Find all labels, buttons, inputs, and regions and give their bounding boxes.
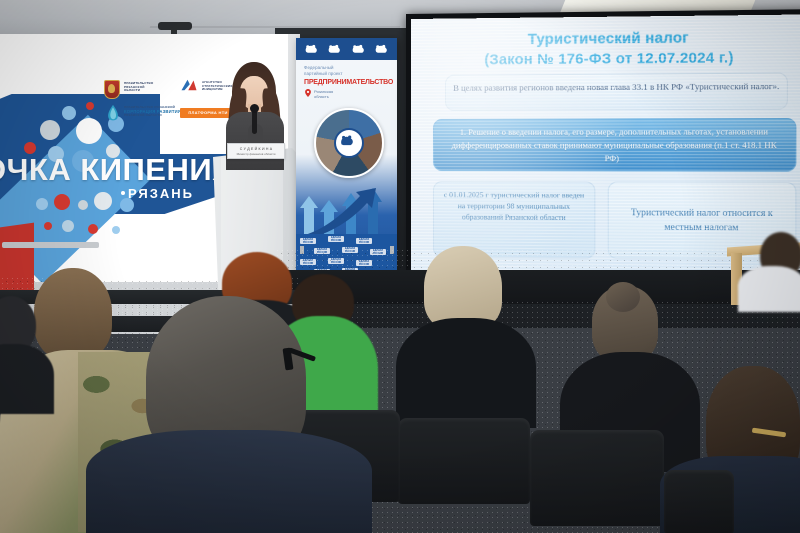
chair-back (530, 430, 664, 526)
chair-back (664, 470, 734, 533)
asi-logo-text: АГЕНТСТВОСТРАТЕГИЧЕСКИХИНИЦИАТИВ (202, 81, 232, 92)
rollup-base (2, 242, 99, 248)
growth-arrows-graphic (296, 178, 397, 240)
venue-city: РЯЗАНЬ (128, 186, 194, 201)
korporaciya-razvitiya-logo-icon (106, 104, 120, 121)
party-seal-icon (339, 133, 355, 149)
rollup-title: ПРЕДПРИНИМАТЕЛЬСТВО (304, 79, 393, 86)
venue-title: ОЧКА КИПЕНИЯ (0, 152, 242, 188)
slide-box-decision: 1. Решение о введении налога, его размер… (433, 118, 796, 172)
bear-logo-icon (304, 43, 319, 55)
nti-platform-badge-label: ПЛАТФОРМА НТИ (180, 108, 236, 118)
nameplate-name: С У Д Е Й К И Н А (228, 147, 284, 151)
rollup-region-line2: область (314, 94, 329, 99)
korporaciya-razvitiya-logo-text: ПРАВИТЕЛЬСТВО РЯЗАНСКОЙКОРПОРАЦИЯ РАЗВИТ… (124, 106, 181, 118)
rollup-subtitle: Федеральный партийный проект (304, 65, 343, 77)
podium-nameplate: С У Д Е Й К И Н А Министр финансов облас… (227, 143, 285, 159)
nti-platform-badge: ПЛАТФОРМА НТИ (180, 108, 236, 118)
asi-logo-icon (180, 78, 198, 92)
bear-logo-icon (351, 43, 366, 55)
nameplate-role: Министр финансов области (228, 152, 284, 156)
bear-logo-icon (374, 43, 389, 55)
rollup-header-bar (296, 38, 397, 60)
rollup-subtitle-line1: Федеральный (304, 65, 334, 70)
bear-logo-icon (327, 43, 342, 55)
ryazan-coat-of-arms-icon (104, 80, 120, 99)
slide-subtitle: (Закон № 176-ФЗ от 12.07.2024 г.) (429, 50, 792, 69)
location-pin-icon (305, 89, 311, 97)
slide-box-intro: В целях развития регионов введена новая … (445, 73, 788, 111)
rollup-subtitle-line2: партийный проект (304, 71, 343, 76)
conference-room-photo: ОЧКА КИПЕНИЯ РЯЗАНЬ ПРАВИТЕЛЬСТВОРЯЗАНСК… (0, 0, 800, 533)
government-logo-text: ПРАВИТЕЛЬСТВОРЯЗАНСКОЙОБЛАСТИ (124, 82, 153, 93)
venue-city-dot-icon (121, 191, 125, 195)
microphone-head-icon (250, 104, 259, 113)
rollup-region: Рязанская область (314, 89, 333, 99)
chair-back (398, 418, 530, 504)
hair-bun (606, 282, 640, 312)
slide-title: Туристический налог (429, 29, 792, 49)
rollup-party-logos (300, 42, 393, 56)
